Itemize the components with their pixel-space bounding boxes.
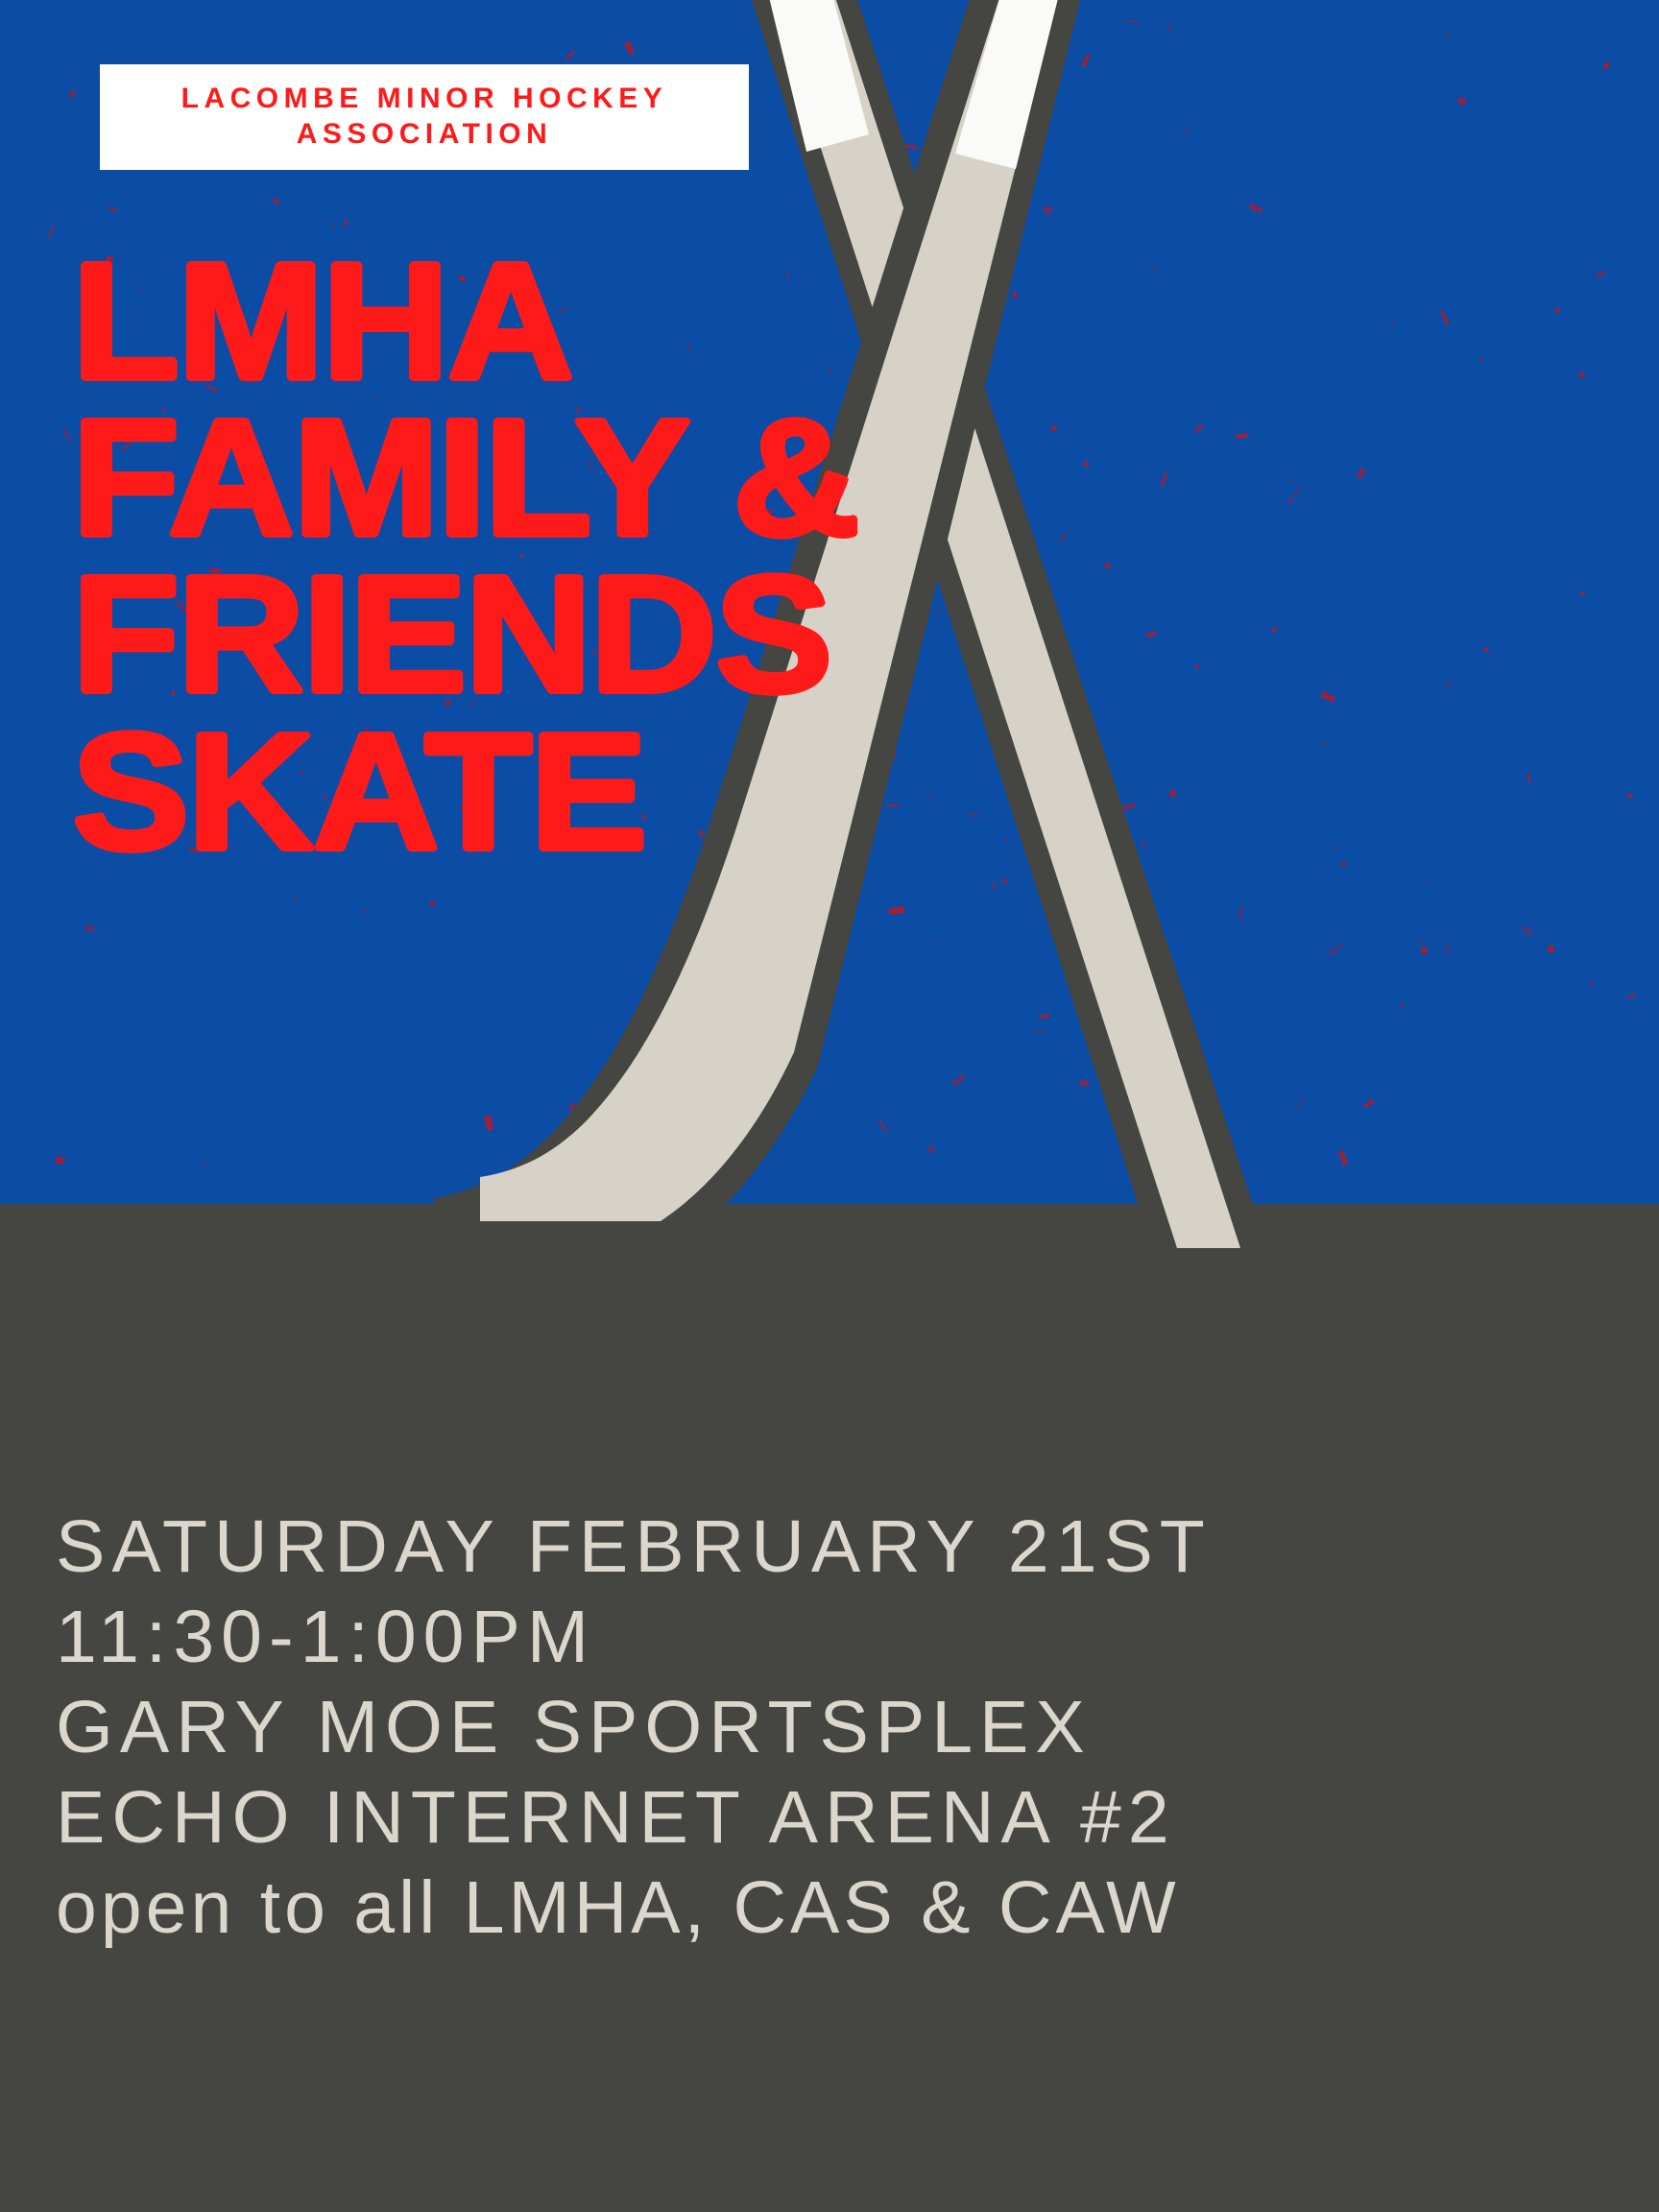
poster-canvas: LACOMBE MINOR HOCKEY ASSOCIATION LMHA FA… [0,0,1659,2212]
banner-line-1: LACOMBE MINOR HOCKEY [181,82,668,117]
detail-venue: GARY MOE SPORTSPLEX [56,1683,1630,1773]
detail-audience: open to all LMHA, CAS & CAW [56,1863,1630,1954]
headline-line-lmha: LMHA [72,248,1191,394]
headline-line-friends: FRIENDS [72,561,1191,707]
banner-line-2: ASSOCIATION [297,117,553,153]
headline-line-skate: SKATE [72,718,1191,864]
page-title: LMHA FAMILY & FRIENDS SKATE [72,248,1128,875]
event-details-block: SATURDAY FEBRUARY 21ST 11:30-1:00PM GARY… [56,1503,1630,1954]
association-banner: LACOMBE MINOR HOCKEY ASSOCIATION [100,64,749,170]
headline-line-family: FAMILY & [72,404,1191,550]
detail-time: 11:30-1:00PM [56,1593,1630,1683]
detail-date: SATURDAY FEBRUARY 21ST [56,1503,1630,1593]
detail-arena: ECHO INTERNET ARENA #2 [56,1773,1630,1863]
